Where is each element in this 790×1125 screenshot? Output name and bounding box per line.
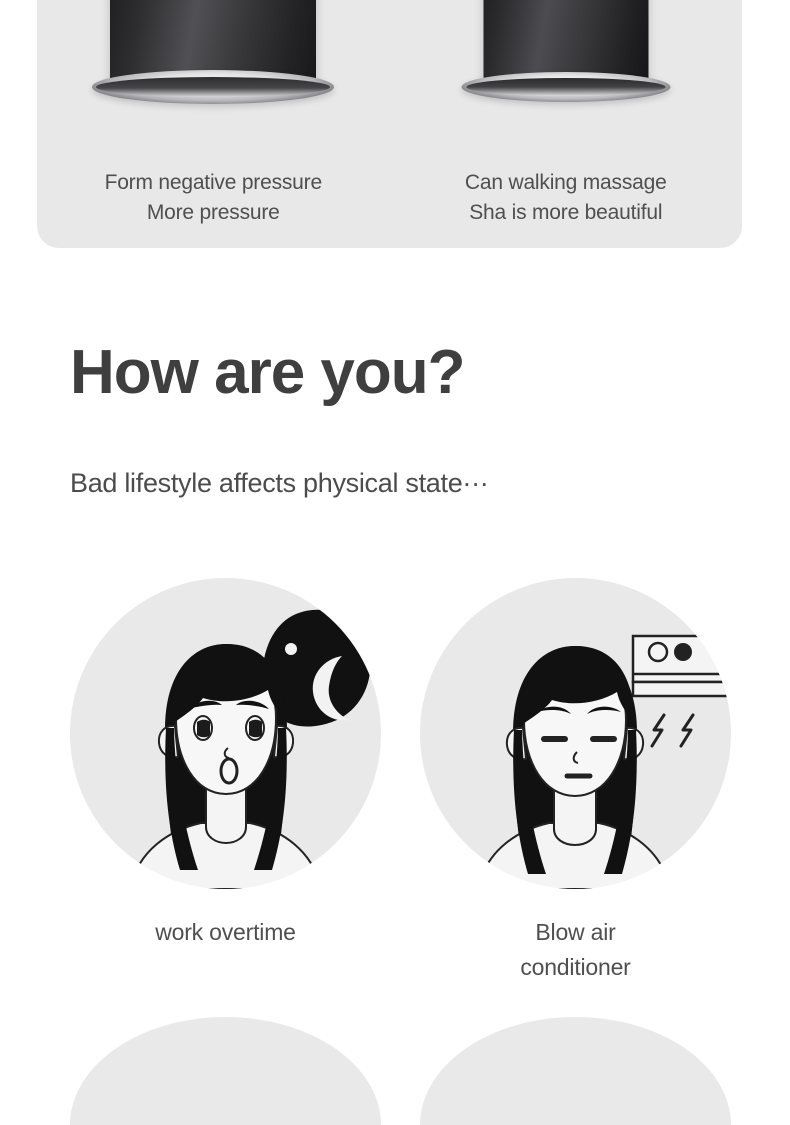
- symptom-item-three: [70, 1017, 381, 1125]
- symptom-item-work-overtime: work overtime: [70, 578, 381, 950]
- product-caption-1-line-1: Form negative pressure: [37, 168, 390, 198]
- product-caption-2-line-2: Sha is more beautiful: [390, 198, 743, 228]
- woman-night-moon-icon: [70, 578, 381, 889]
- product-caption-1-line-2: More pressure: [37, 198, 390, 228]
- symptom-label-line-1: work overtime: [155, 919, 296, 945]
- product-caption-2: Can walking massage Sha is more beautifu…: [390, 168, 743, 228]
- product-caption-1: Form negative pressure More pressure: [37, 168, 390, 228]
- woman-partial-icon: [70, 1017, 381, 1125]
- symptom-item-four: [420, 1017, 731, 1125]
- product-feature-cell-1: Form negative pressure More pressure: [37, 0, 390, 248]
- symptom-label-line-2: conditioner: [520, 954, 630, 980]
- product-caption-2-line-1: Can walking massage: [390, 168, 743, 198]
- symptom-label-blow-air-conditioner: Blow air conditioner: [420, 915, 731, 985]
- cupping-cup-tall-icon: [483, 0, 648, 88]
- symptom-label-line-1: Blow air: [535, 919, 615, 945]
- woman-partial-icon: [420, 1017, 731, 1125]
- symptom-label-work-overtime: work overtime: [70, 915, 381, 950]
- cupping-cup-wide-icon: [110, 0, 316, 88]
- symptom-item-blow-air-conditioner: Blow air conditioner: [420, 578, 731, 985]
- woman-air-conditioner-icon: [420, 578, 731, 889]
- section-subheadline: Bad lifestyle affects physical state···: [70, 468, 488, 499]
- section-headline: How are you?: [70, 337, 465, 408]
- product-feature-cell-2: Can walking massage Sha is more beautifu…: [390, 0, 743, 248]
- product-feature-panel: Form negative pressure More pressure Can…: [37, 0, 742, 248]
